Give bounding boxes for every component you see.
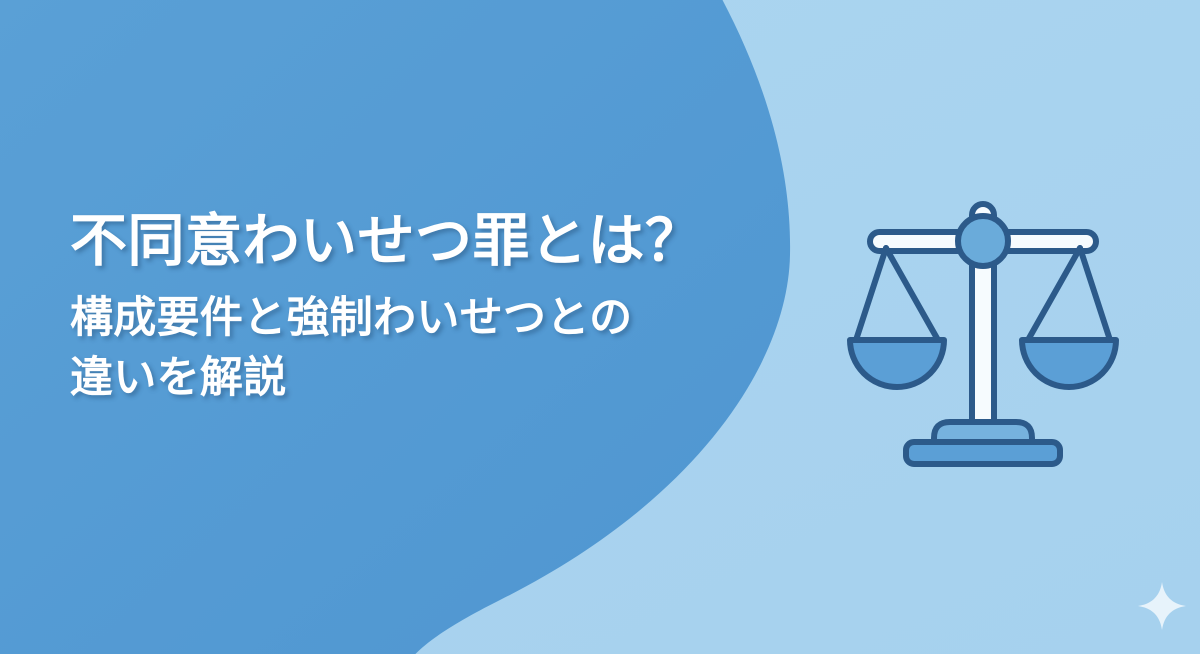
sparkle-star-icon [1136,580,1188,632]
left-string-outer [856,248,886,340]
scales-of-justice-icon [838,186,1128,476]
subtitle-line-1: 構成要件と強制わいせつとの [70,288,790,348]
subtitle-line-2: 違いを解説 [70,348,790,408]
scale-base-lower [906,442,1060,464]
scale-pivot [958,216,1008,266]
right-string-inner [1028,248,1080,340]
headline-group: 不同意わいせつ罪とは？ 構成要件と強制わいせつとの 違いを解説 [70,208,790,408]
left-pan [850,340,944,387]
page-title: 不同意わいせつ罪とは？ [70,208,790,274]
page-subtitle: 構成要件と強制わいせつとの 違いを解説 [70,288,790,408]
slide-canvas: 不同意わいせつ罪とは？ 構成要件と強制わいせつとの 違いを解説 [0,0,1200,654]
left-string-inner [886,248,938,340]
right-pan [1022,340,1116,387]
sparkle-shape [1138,582,1186,630]
right-string-outer [1080,248,1110,340]
